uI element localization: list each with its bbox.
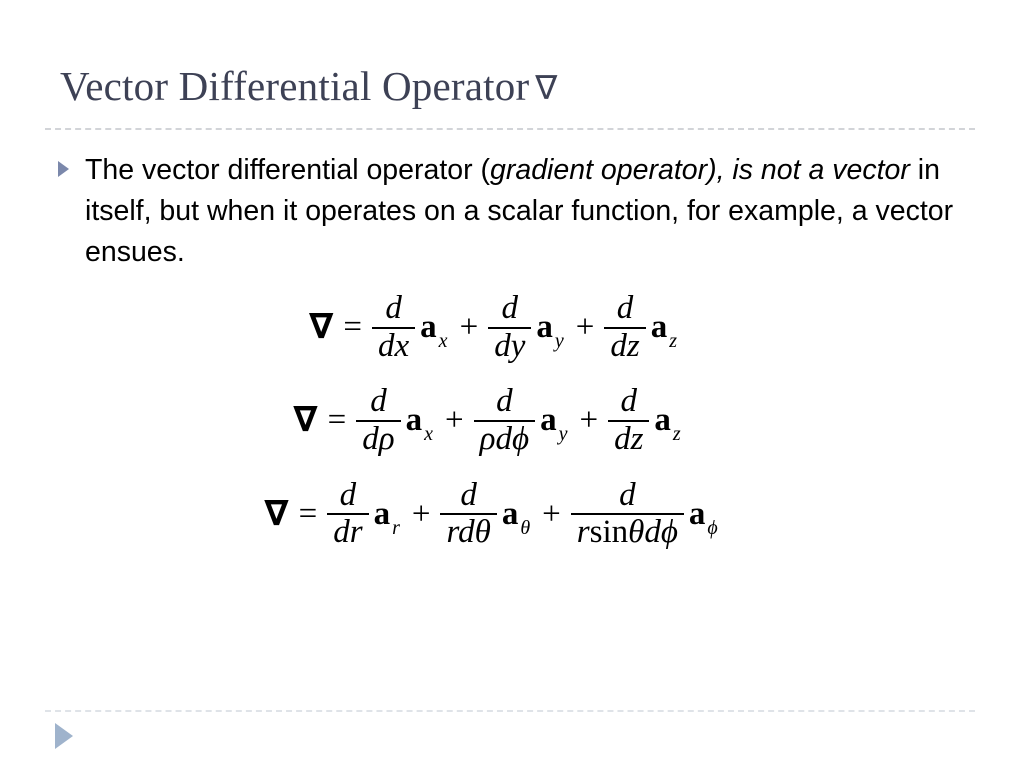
fraction-numerator: d <box>334 479 363 514</box>
fraction-term-3: d dz <box>608 385 649 456</box>
vector-subscript: y <box>555 330 564 353</box>
vector-symbol: a <box>689 496 706 533</box>
equals-sign: = <box>299 496 318 533</box>
nabla-symbol: ∇ <box>309 310 333 345</box>
vector-subscript: z <box>673 423 681 446</box>
vector-symbol: a <box>536 309 553 346</box>
vector-subscript: θ <box>520 517 530 540</box>
denominator-function: sin <box>590 514 629 550</box>
vector-symbol: a <box>654 402 671 439</box>
equation-cartesian: ∇ = d dx a x + d dy a y + <box>0 292 1024 363</box>
equals-sign: = <box>343 309 362 346</box>
footer-triangle-icon <box>55 723 73 749</box>
fraction-numerator: d <box>454 479 483 514</box>
vector-symbol: a <box>406 402 423 439</box>
denominator-suffix: θdϕ <box>628 514 678 550</box>
fraction-denominator: rsinθdϕ <box>571 515 684 550</box>
fraction-numerator: d <box>379 292 408 327</box>
vector-symbol: a <box>651 309 668 346</box>
fraction-term-1: d dr <box>327 479 368 550</box>
title-divider <box>45 128 975 130</box>
fraction-term-2: d rdθ <box>440 479 496 550</box>
fraction-denominator: dy <box>488 329 531 364</box>
unit-vector-3: a z <box>651 309 677 346</box>
fraction-denominator: dz <box>604 329 645 364</box>
vector-subscript: z <box>669 330 677 353</box>
unit-vector-3: a z <box>654 402 680 439</box>
equals-sign: = <box>328 402 347 439</box>
bullet-item-text: The vector differential operator (gradie… <box>85 150 975 273</box>
plus-operator-1: + <box>445 402 464 439</box>
plus-operator-1: + <box>460 309 479 346</box>
plus-operator-2: + <box>542 496 561 533</box>
paragraph-italic-2: vector <box>832 154 910 186</box>
fraction-numerator: d <box>613 479 642 514</box>
fraction-denominator: dx <box>372 329 415 364</box>
bullet-list-item: The vector differential operator (gradie… <box>58 150 988 273</box>
nabla-symbol: ∇ <box>264 497 288 532</box>
equation-spherical: ∇ = d dr a r + d rdθ a θ + <box>0 479 1024 550</box>
vector-subscript: r <box>392 517 400 540</box>
unit-vector-2: a θ <box>502 496 530 533</box>
fraction-numerator: d <box>615 385 644 420</box>
fraction-numerator: d <box>490 385 519 420</box>
triangle-bullet-icon <box>58 161 69 177</box>
paragraph-italic-1: gradient operator), is not a <box>490 154 824 186</box>
footer-divider <box>45 710 975 712</box>
vector-subscript: y <box>559 423 568 446</box>
plus-operator-2: + <box>579 402 598 439</box>
page-title-text: Vector Differential Operator <box>60 63 529 109</box>
slide-canvas: Vector Differential Operator∇ The vector… <box>0 0 1024 768</box>
fraction-denominator: ρdϕ <box>474 422 535 457</box>
fraction-numerator: d <box>611 292 640 327</box>
unit-vector-3: a ϕ <box>689 496 718 533</box>
page-title: Vector Differential Operator∇ <box>60 64 980 110</box>
fraction-term-3: d rsinθdϕ <box>571 479 684 550</box>
vector-symbol: a <box>420 309 437 346</box>
fraction-denominator: rdθ <box>440 515 496 550</box>
vector-subscript: x <box>424 423 433 446</box>
nabla-symbol: ∇ <box>293 403 317 438</box>
plus-operator-2: + <box>576 309 595 346</box>
fraction-denominator: dz <box>608 422 649 457</box>
vector-symbol: a <box>374 496 391 533</box>
fraction-numerator: d <box>496 292 525 327</box>
unit-vector-2: a y <box>540 402 567 439</box>
plus-operator-1: + <box>412 496 431 533</box>
fraction-term-1: d dρ <box>356 385 400 456</box>
unit-vector-1: a x <box>406 402 433 439</box>
fraction-numerator: d <box>364 385 393 420</box>
fraction-term-2: d ρdϕ <box>474 385 535 456</box>
nabla-icon: ∇ <box>529 68 557 107</box>
equation-group: ∇ = d dx a x + d dy a y + <box>0 292 1024 550</box>
fraction-term-3: d dz <box>604 292 645 363</box>
fraction-denominator: dρ <box>356 422 400 457</box>
fraction-term-2: d dy <box>488 292 531 363</box>
unit-vector-1: a x <box>420 309 447 346</box>
vector-subscript: x <box>439 330 448 353</box>
fraction-denominator: dr <box>327 515 368 550</box>
vector-symbol: a <box>540 402 557 439</box>
equation-cylindrical: ∇ = d dρ a x + d ρdϕ a y + <box>0 385 1024 456</box>
vector-symbol: a <box>502 496 519 533</box>
unit-vector-1: a r <box>374 496 400 533</box>
unit-vector-2: a y <box>536 309 563 346</box>
fraction-term-1: d dx <box>372 292 415 363</box>
paragraph-segment-1: The vector differential operator ( <box>85 154 490 186</box>
denominator-prefix: r <box>577 514 590 550</box>
vector-subscript: ϕ <box>707 517 717 540</box>
